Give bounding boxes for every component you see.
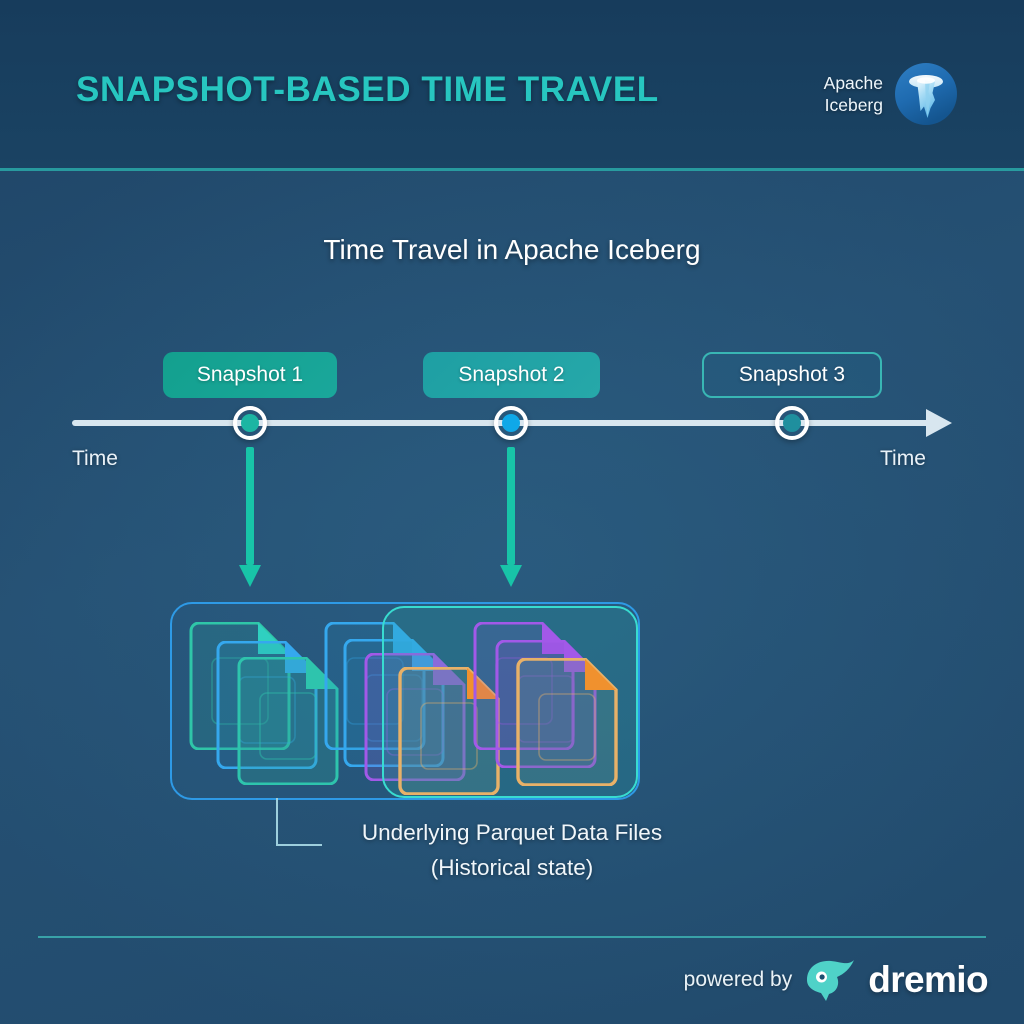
marker-dot — [241, 414, 259, 432]
caption-line-2: (Historical state) — [0, 851, 1024, 886]
infographic-canvas: SNAPSHOT-BASED TIME TRAVEL Apache Iceber… — [0, 0, 1024, 1024]
powered-by-label: powered by — [684, 968, 793, 992]
brand-line-2: Iceberg — [824, 94, 883, 116]
badge-snapshot-3[interactable]: Snapshot 3 — [702, 352, 882, 398]
footer-divider — [38, 936, 986, 938]
marker-snapshot-2[interactable] — [494, 406, 528, 440]
diagram-title: Time Travel in Apache Iceberg — [0, 234, 1024, 266]
doc-icon-s3-c — [513, 658, 621, 786]
badge-snapshot-1[interactable]: Snapshot 1 — [163, 352, 337, 398]
marker-dot — [783, 414, 801, 432]
caption: Underlying Parquet Data Files (Historica… — [0, 816, 1024, 886]
drop-arrow-snapshot-2 — [500, 447, 522, 587]
marker-dot — [502, 414, 520, 432]
caption-line-1: Underlying Parquet Data Files — [0, 816, 1024, 851]
dremio-brand: powered by dremio — [684, 958, 988, 1002]
drop-arrow-snapshot-1 — [239, 447, 261, 587]
brand-text: Apache Iceberg — [824, 72, 883, 117]
iceberg-circle-icon — [894, 62, 958, 126]
dremio-narwhal-icon — [804, 958, 856, 1002]
time-label-right: Time — [880, 447, 926, 471]
time-label-left: Time — [72, 447, 118, 471]
header-divider — [0, 168, 1024, 171]
brand-line-1: Apache — [824, 72, 883, 94]
badge-snapshot-2[interactable]: Snapshot 2 — [423, 352, 600, 398]
dremio-wordmark: dremio — [868, 959, 988, 1001]
marker-snapshot-1[interactable] — [233, 406, 267, 440]
apache-iceberg-brand: Apache Iceberg — [824, 62, 958, 126]
arrow-right-icon — [926, 409, 952, 437]
marker-snapshot-3[interactable] — [775, 406, 809, 440]
page-title: SNAPSHOT-BASED TIME TRAVEL — [76, 70, 659, 110]
